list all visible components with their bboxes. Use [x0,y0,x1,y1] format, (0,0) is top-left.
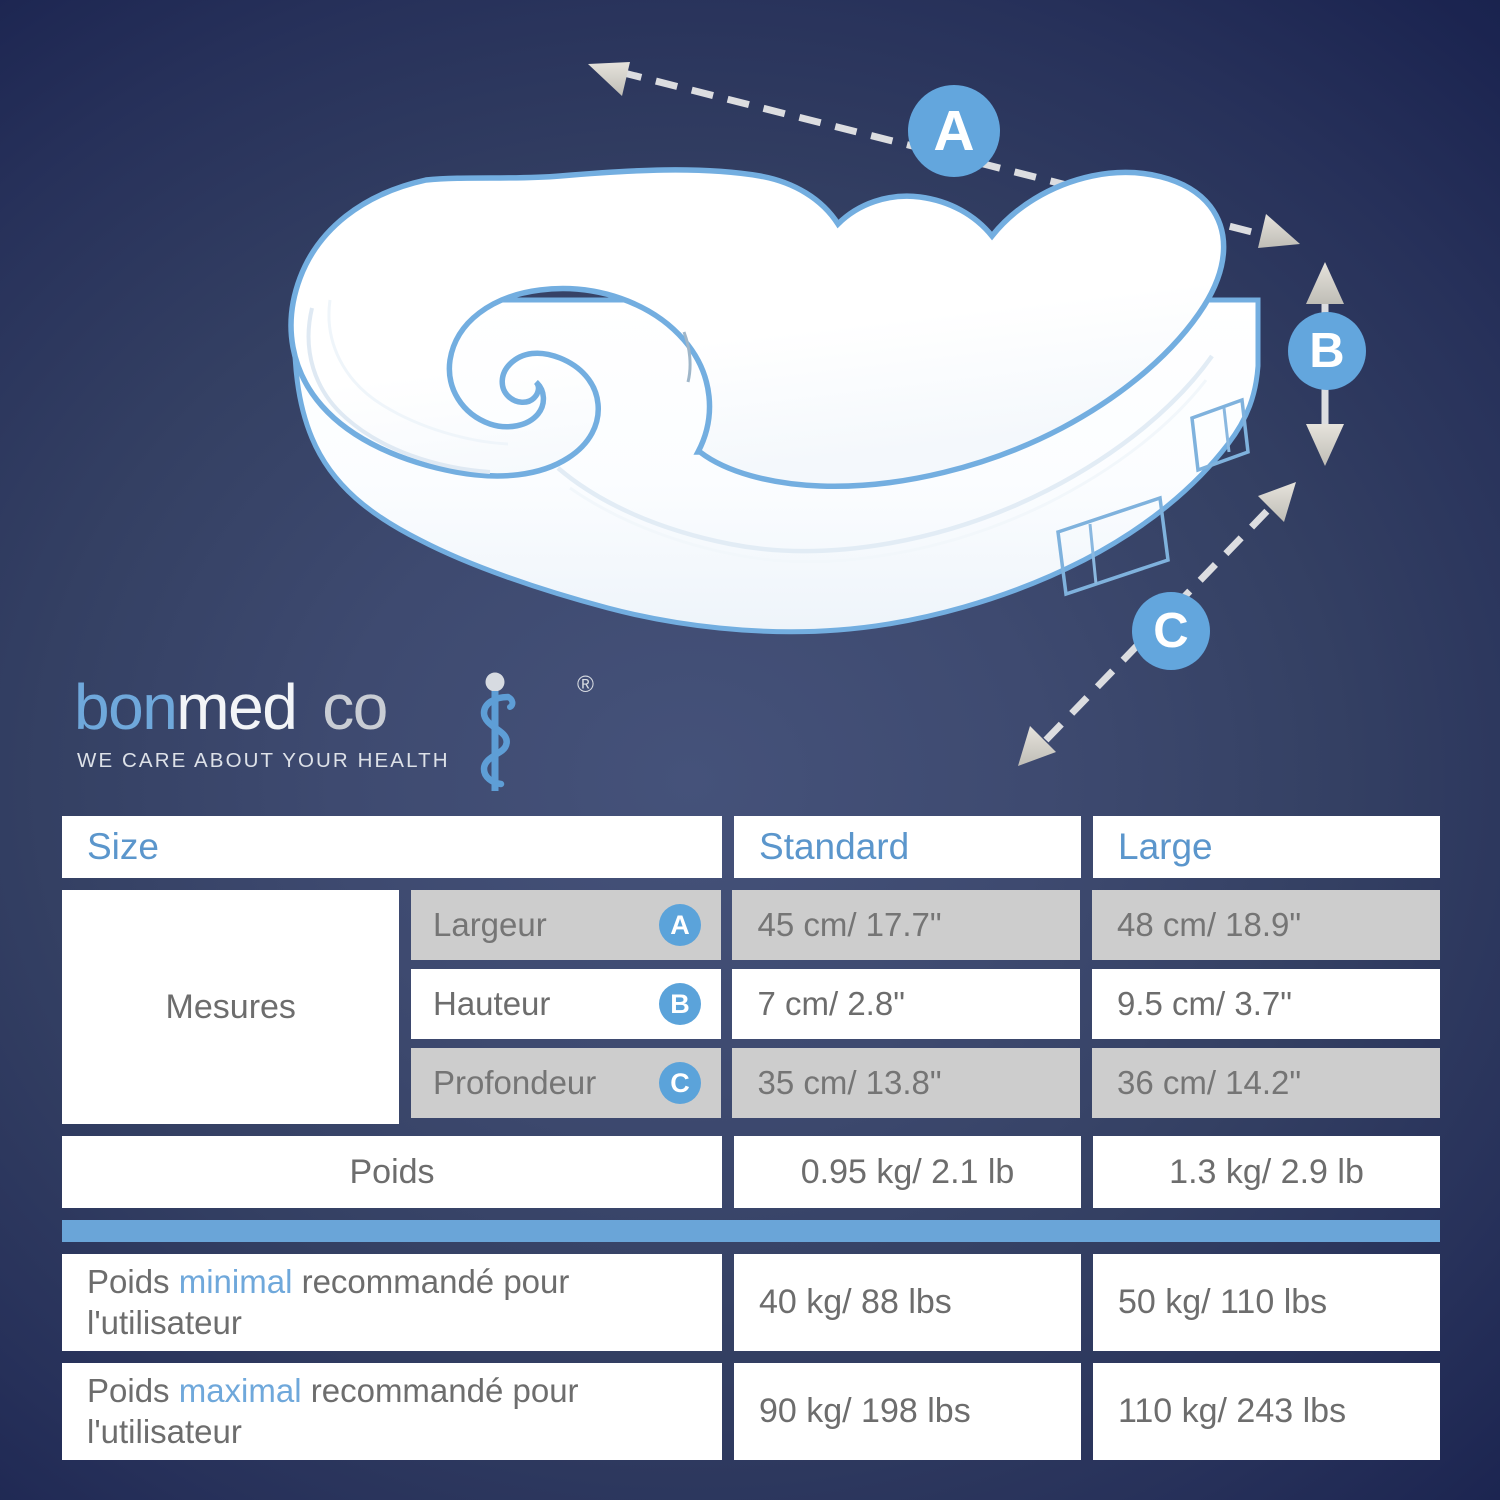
header-standard: Standard [734,816,1081,878]
logo-o: o [353,671,387,743]
dimension-marker-a: A [908,85,1000,177]
dimension-marker-a-label: A [933,103,974,160]
specification-table: Size Standard Large Mesures Largeur A Ha… [62,816,1440,1460]
dimension-label: Largeur [433,906,547,944]
cell-value: 9.5 cm/ 3.7" [1092,969,1440,1039]
min-weight-label: Poids minimal recommandé pour l'utilisat… [62,1254,722,1351]
min-weight-large: 50 kg/ 110 lbs [1093,1254,1440,1351]
min-weight-prefix: Poids [87,1263,179,1300]
dimension-marker-b-label: B [1309,327,1344,376]
infographic-page: A B C bonmedco ® WE CARE ABOUT YOUR HEAL… [0,0,1500,1500]
dimension-badge-a: A [659,904,701,946]
cell-value: 7 cm/ 2.8" [732,969,1080,1039]
logo-tagline: WE CARE ABOUT YOUR HEALTH [77,749,450,773]
section-divider [62,1208,1440,1254]
dimension-marker-c: C [1132,592,1210,670]
dimension-label: Profondeur [433,1064,596,1102]
standard-value-column: 45 cm/ 17.7" 7 cm/ 2.8" 35 cm/ 13.8" [732,890,1080,1124]
table-row: Largeur A [411,890,721,960]
dimension-badge-b: B [659,983,701,1025]
dimension-marker-c-label: C [1153,607,1188,656]
weight-large: 1.3 kg/ 2.9 lb [1093,1136,1440,1208]
cell-value: 45 cm/ 17.7" [732,890,1080,960]
max-user-weight-row: Poids maximal recommandé pour l'utilisat… [62,1363,1440,1460]
brand-logo: bonmedco ® WE CARE ABOUT YOUR HEALTH [72,663,632,793]
table-header-row: Size Standard Large [62,816,1440,878]
caduceus-icon [468,671,522,793]
logo-wordmark: bonmedco [74,675,387,739]
table-row: Hauteur B [411,969,721,1039]
max-weight-standard: 90 kg/ 198 lbs [734,1363,1081,1460]
header-size: Size [62,816,722,878]
min-user-weight-row: Poids minimal recommandé pour l'utilisat… [62,1254,1440,1351]
weight-label: Poids [62,1136,722,1208]
dimension-marker-b: B [1288,312,1366,390]
cell-value: 35 cm/ 13.8" [732,1048,1080,1118]
seat-cushion-shape [291,170,1258,632]
registered-trademark-icon: ® [577,671,594,698]
large-value-column: 48 cm/ 18.9" 9.5 cm/ 3.7" 36 cm/ 14.2" [1092,890,1440,1124]
max-weight-prefix: Poids [87,1372,179,1409]
measures-block: Mesures Largeur A Hauteur B Profondeur C [62,890,1440,1124]
table-row: Profondeur C [411,1048,721,1118]
cell-value: 36 cm/ 14.2" [1092,1048,1440,1118]
weight-standard: 0.95 kg/ 2.1 lb [734,1136,1081,1208]
cell-value: 48 cm/ 18.9" [1092,890,1440,960]
weight-row: Poids 0.95 kg/ 2.1 lb 1.3 kg/ 2.9 lb [62,1136,1440,1208]
dimension-label-column: Largeur A Hauteur B Profondeur C [411,890,721,1124]
max-weight-large: 110 kg/ 243 lbs [1093,1363,1440,1460]
max-weight-emphasis: maximal [179,1372,302,1409]
min-weight-emphasis: minimal [179,1263,293,1300]
min-weight-standard: 40 kg/ 88 lbs [734,1254,1081,1351]
logo-bon: bon [74,671,176,743]
max-weight-label: Poids maximal recommandé pour l'utilisat… [62,1363,722,1460]
dimension-badge-c: C [659,1062,701,1104]
header-large: Large [1093,816,1440,878]
logo-med: med [176,671,296,743]
dimension-label: Hauteur [433,985,550,1023]
measures-group-label: Mesures [62,890,399,1124]
logo-c: c [322,671,353,743]
